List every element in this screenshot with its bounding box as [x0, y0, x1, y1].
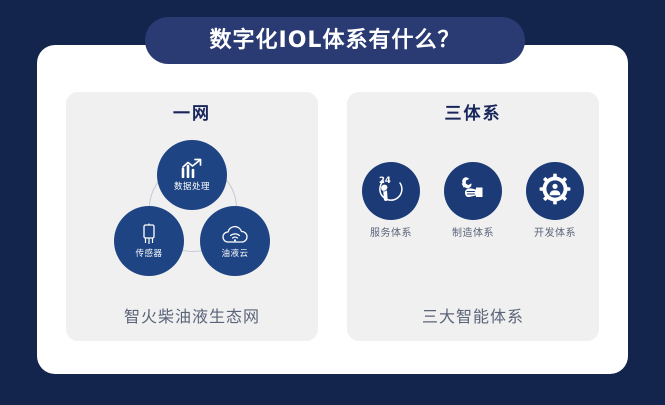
svg-text:24: 24: [379, 176, 391, 186]
panel-heading-left: 一网: [66, 106, 318, 123]
bubble-data-processing[interactable]: 数据处理: [157, 140, 227, 210]
title-pill: 数字化IOL体系有什么？: [145, 17, 525, 64]
24h-wrench-icon: 24: [374, 172, 408, 210]
systems-row: 24 服务体系: [347, 162, 599, 239]
system-label-development: 开发体系: [534, 229, 576, 239]
disc-manufacturing: [444, 162, 502, 220]
bubble-sensor[interactable]: 传感器: [114, 206, 184, 276]
system-item-service[interactable]: 24 服务体系: [358, 162, 424, 239]
venn-cluster: 数据处理 传感器: [107, 140, 277, 285]
disc-service: 24: [362, 162, 420, 220]
disc-development: [526, 162, 584, 220]
bar-chart-growth-icon: [179, 158, 205, 182]
sensor-device-icon: [138, 223, 160, 249]
panel-caption-right: 三大智能体系: [347, 309, 599, 325]
hand-wrench-icon: [456, 172, 490, 210]
bubble-label-oil-cloud: 油液云: [221, 250, 248, 259]
panel-heading-right: 三体系: [347, 106, 599, 123]
bubble-label-sensor: 传感器: [135, 250, 162, 259]
page-title: 数字化IOL体系有什么？: [210, 30, 461, 52]
cloud-wifi-icon: [221, 224, 249, 249]
bubble-label-data-processing: 数据处理: [174, 183, 210, 192]
panel-three-systems: 三体系 24 服务体系: [347, 92, 599, 341]
gear-person-icon: [539, 173, 571, 209]
system-item-development[interactable]: 开发体系: [522, 162, 588, 239]
system-item-manufacturing[interactable]: 制造体系: [440, 162, 506, 239]
system-label-service: 服务体系: [370, 229, 412, 239]
infographic-slide: 数字化IOL体系有什么？ 一网 数据处理: [0, 0, 665, 405]
system-label-manufacturing: 制造体系: [452, 229, 494, 239]
panel-one-network: 一网 数据处理: [66, 92, 318, 341]
panel-caption-left: 智火柴油液生态网: [66, 309, 318, 325]
bubble-oil-cloud[interactable]: 油液云: [200, 206, 270, 276]
